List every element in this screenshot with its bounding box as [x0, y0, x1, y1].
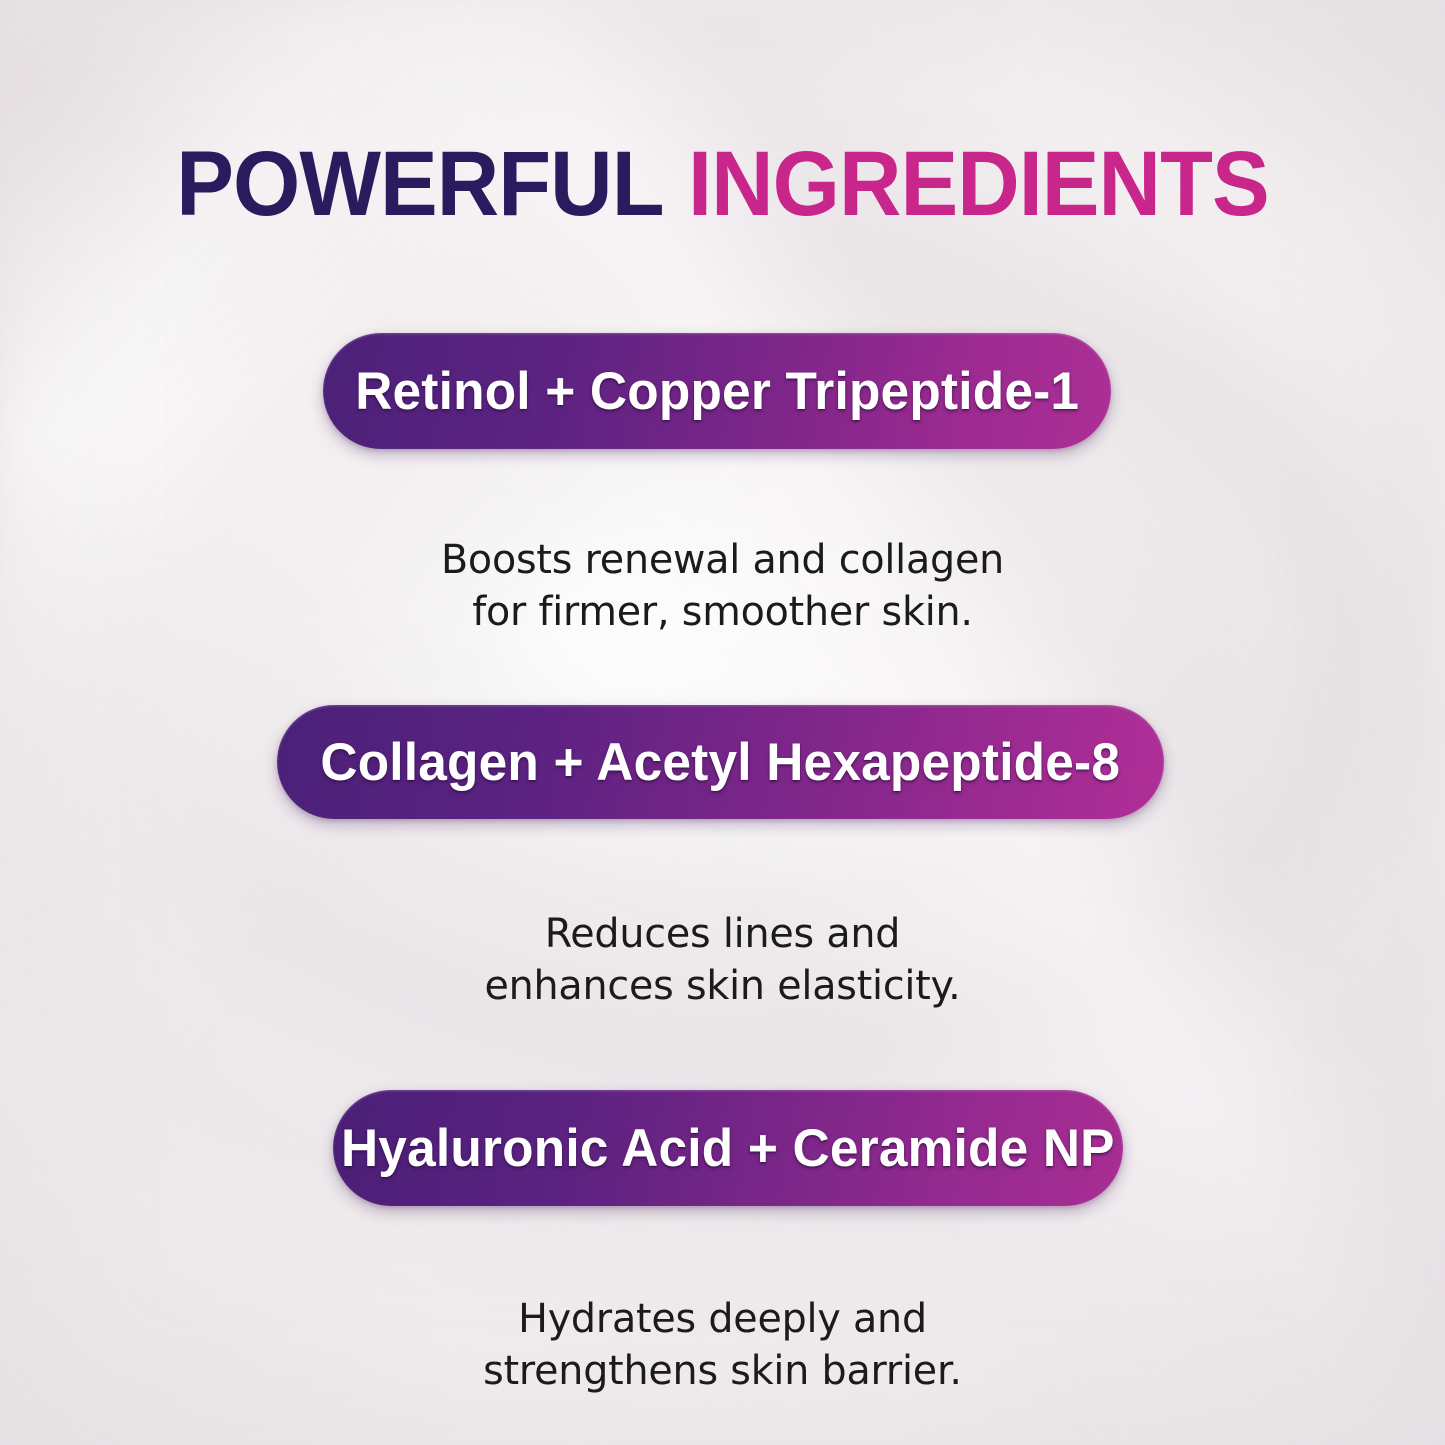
ingredient-pill-1[interactable]: Retinol + Copper Tripeptide-1	[323, 333, 1111, 449]
ingredient-description-2-line-1: Reduces lines and	[7, 908, 1438, 960]
ingredient-pill-3-label: Hyaluronic Acid + Ceramide NP	[341, 1122, 1115, 1175]
ingredient-pill-1-label: Retinol + Copper Tripeptide-1	[355, 365, 1079, 418]
ingredient-description-3-line-1: Hydrates deeply and	[7, 1293, 1438, 1345]
ingredient-description-1-line-1: Boosts renewal and collagen	[7, 534, 1438, 586]
ingredient-description-3: Hydrates deeply and strengthens skin bar…	[0, 1293, 1445, 1397]
ingredient-pill-2-label: Collagen + Acetyl Hexapeptide-8	[321, 736, 1121, 789]
page-title-word-accent: INGREDIENTS	[688, 133, 1269, 235]
infographic-canvas: POWERFULINGREDIENTS Retinol + Copper Tri…	[0, 0, 1445, 1445]
ingredient-description-1-line-2: for firmer, smoother skin.	[7, 586, 1438, 638]
ingredient-description-3-line-2: strengthens skin barrier.	[7, 1345, 1438, 1397]
page-title: POWERFULINGREDIENTS	[43, 138, 1401, 230]
ingredient-description-1: Boosts renewal and collagen for firmer, …	[0, 534, 1445, 638]
ingredient-description-2: Reduces lines and enhances skin elastici…	[0, 908, 1445, 1012]
page-title-word-primary: POWERFUL	[176, 133, 663, 235]
ingredient-pill-3[interactable]: Hyaluronic Acid + Ceramide NP	[333, 1090, 1123, 1206]
ingredient-description-2-line-2: enhances skin elasticity.	[7, 960, 1438, 1012]
ingredient-pill-2[interactable]: Collagen + Acetyl Hexapeptide-8	[277, 705, 1164, 819]
